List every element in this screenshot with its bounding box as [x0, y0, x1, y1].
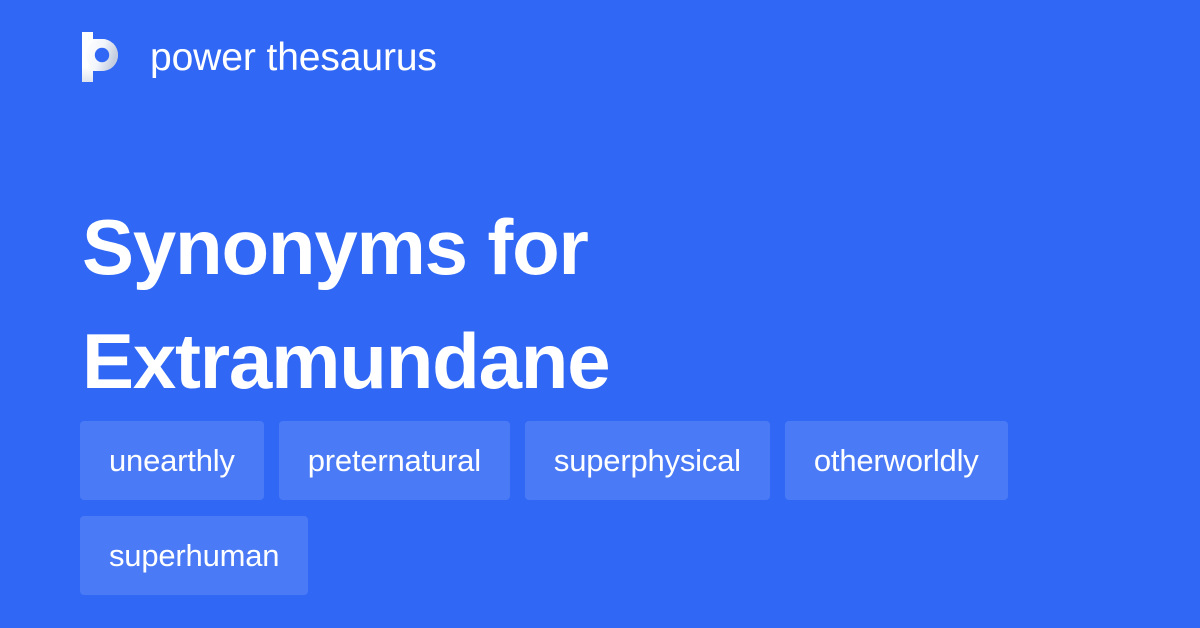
synonym-chip[interactable]: otherworldly: [785, 421, 1008, 500]
brand-name: power thesaurus: [150, 38, 437, 77]
power-thesaurus-logo-icon: [82, 32, 126, 82]
synonym-chip-list: unearthly preternatural superphysical ot…: [80, 421, 1130, 595]
brand-header[interactable]: power thesaurus: [82, 28, 437, 86]
synonym-chip[interactable]: superhuman: [80, 516, 308, 595]
synonym-chip[interactable]: unearthly: [80, 421, 264, 500]
synonym-chip[interactable]: preternatural: [279, 421, 510, 500]
page-title-line-1: Synonyms for: [82, 190, 1122, 304]
synonym-chip[interactable]: superphysical: [525, 421, 770, 500]
page-title: Synonyms for Extramundane: [82, 190, 1122, 418]
page-title-line-2: Extramundane: [82, 304, 1122, 418]
synonyms-share-card: power thesaurus Synonyms for Extramundan…: [0, 0, 1200, 628]
